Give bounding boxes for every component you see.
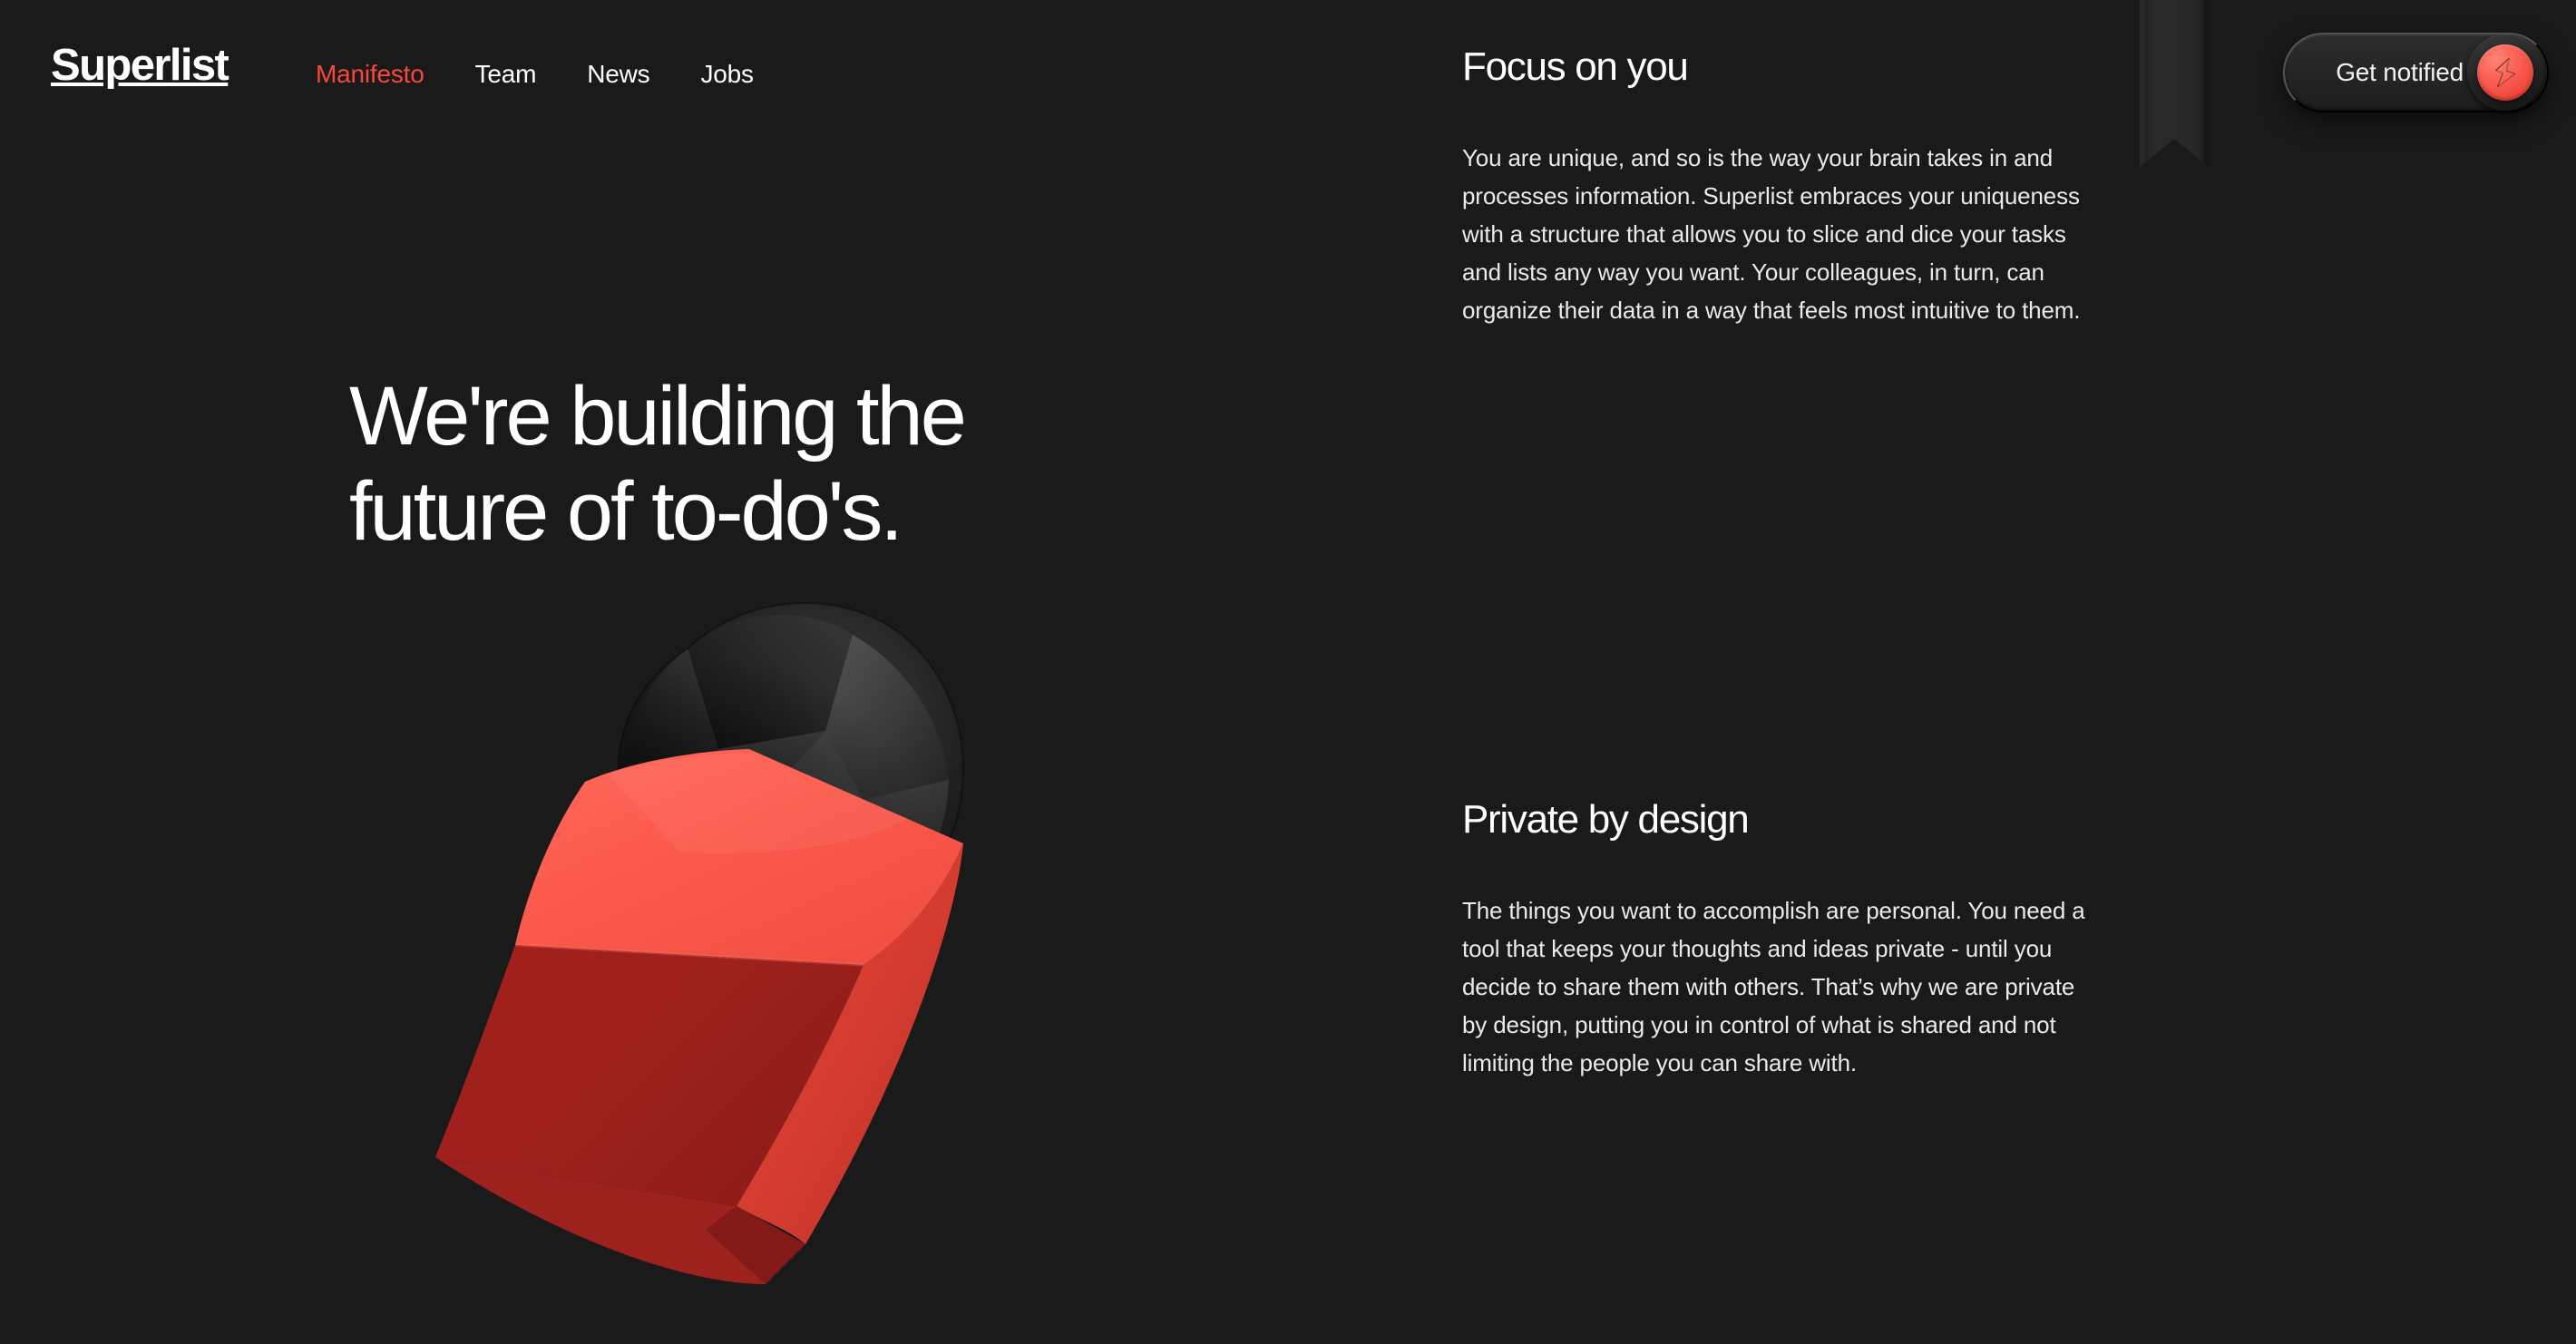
lightning-bolt-icon xyxy=(2492,57,2519,88)
red-cube xyxy=(435,749,963,1284)
bookmark-ribbon-icon xyxy=(2136,0,2212,174)
nav-link-manifesto[interactable]: Manifesto xyxy=(316,62,424,87)
notify-knob-face xyxy=(2477,44,2533,101)
section-body-private: The things you want to accomplish are pe… xyxy=(1462,891,2088,1083)
brand-logo[interactable]: Superlist xyxy=(51,44,228,88)
nav-link-jobs[interactable]: Jobs xyxy=(700,62,753,87)
notify-knob[interactable] xyxy=(2467,34,2543,111)
get-notified-button[interactable]: Get notified xyxy=(2283,33,2549,112)
nav-link-team[interactable]: Team xyxy=(475,62,537,87)
section-heading-private: Private by design xyxy=(1462,796,2088,844)
main-nav: Manifesto Team News Jobs xyxy=(316,62,754,87)
superlist-3d-objects xyxy=(399,571,1034,1297)
hero-section: We're building the future of to-do's. xyxy=(349,369,1347,560)
nav-link-news[interactable]: News xyxy=(587,62,649,87)
section-private-by-design: Private by design The things you want to… xyxy=(1462,796,2088,1082)
get-notified-label: Get notified xyxy=(2336,58,2464,87)
site-header: Superlist Manifesto Team News Jobs Get n… xyxy=(0,0,2576,163)
hero-title: We're building the future of to-do's. xyxy=(349,369,1347,560)
dark-faceted-sphere xyxy=(619,603,963,959)
section-body-focus: You are unique, and so is the way your b… xyxy=(1462,139,2088,330)
